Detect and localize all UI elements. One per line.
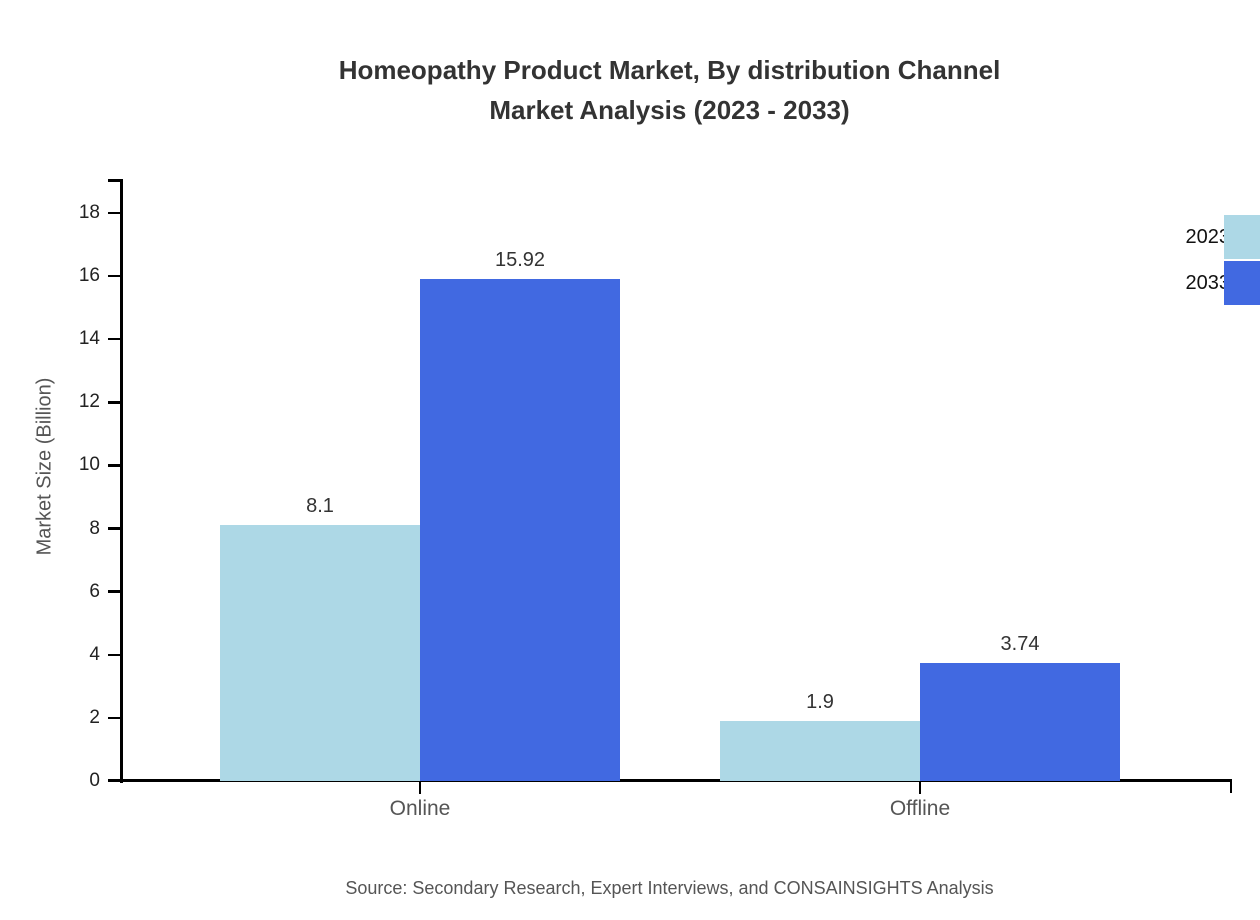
y-axis-tick-label: 18 bbox=[40, 200, 100, 226]
x-axis-tick-mark bbox=[919, 781, 922, 794]
y-axis-tick-mark bbox=[108, 654, 122, 657]
chart-title-line-1: Homeopathy Product Market, By distributi… bbox=[339, 55, 1001, 85]
chart-title-line-2: Market Analysis (2023 - 2033) bbox=[489, 95, 849, 125]
y-axis-tick-label: 0 bbox=[40, 768, 100, 794]
x-axis-category-online: Online bbox=[290, 794, 550, 824]
source-note: Source: Secondary Research, Expert Inter… bbox=[0, 878, 1260, 899]
y-axis-tick-label: 14 bbox=[40, 326, 100, 352]
x-axis-category-offline: Offline bbox=[790, 794, 1050, 824]
chart-legend: 20232033 bbox=[1120, 215, 1260, 307]
y-axis-tick-mark bbox=[108, 717, 122, 720]
bar-offline-2033[interactable] bbox=[920, 663, 1120, 781]
legend-item-2023[interactable]: 2023 bbox=[1120, 215, 1260, 261]
y-axis-tick-mark bbox=[108, 401, 122, 404]
y-axis-tick-label: 4 bbox=[40, 642, 100, 668]
bar-online-2033[interactable] bbox=[420, 279, 620, 781]
bar-value-label: 3.74 bbox=[910, 631, 1130, 657]
x-axis-tick-mark bbox=[419, 781, 422, 794]
bar-value-label: 8.1 bbox=[210, 493, 430, 519]
legend-item-2033[interactable]: 2033 bbox=[1120, 261, 1260, 307]
y-axis-tick-label: 2 bbox=[40, 705, 100, 731]
bar-value-label: 15.92 bbox=[410, 247, 630, 273]
chart-title: Homeopathy Product Market, By distributi… bbox=[0, 50, 1260, 130]
y-axis-tick-label: 8 bbox=[40, 516, 100, 542]
y-axis-tick-mark bbox=[108, 212, 122, 215]
y-axis-tick-mark bbox=[108, 275, 122, 278]
bar-value-label: 1.9 bbox=[710, 689, 930, 715]
y-axis-spine bbox=[120, 179, 123, 783]
y-axis-tick-label: 6 bbox=[40, 579, 100, 605]
x-axis-right-cap bbox=[1230, 779, 1233, 793]
legend-label: 2023 bbox=[1120, 224, 1230, 250]
chart-figure: Homeopathy Product Market, By distributi… bbox=[0, 0, 1260, 920]
bar-offline-2023[interactable] bbox=[720, 721, 920, 781]
y-axis-tick-label: 12 bbox=[40, 389, 100, 415]
y-axis-tick-mark bbox=[108, 464, 122, 467]
legend-label: 2033 bbox=[1120, 270, 1230, 296]
legend-swatch bbox=[1224, 261, 1260, 305]
y-axis-top-cap bbox=[108, 179, 123, 182]
y-axis-tick-mark bbox=[108, 780, 122, 783]
y-axis-tick-mark bbox=[108, 338, 122, 341]
bar-online-2023[interactable] bbox=[220, 525, 420, 781]
y-axis-tick-label: 16 bbox=[40, 263, 100, 289]
y-axis-tick-label: 10 bbox=[40, 452, 100, 478]
y-axis-tick-mark bbox=[108, 590, 122, 593]
y-axis-tick-mark bbox=[108, 527, 122, 530]
legend-swatch bbox=[1224, 215, 1260, 259]
